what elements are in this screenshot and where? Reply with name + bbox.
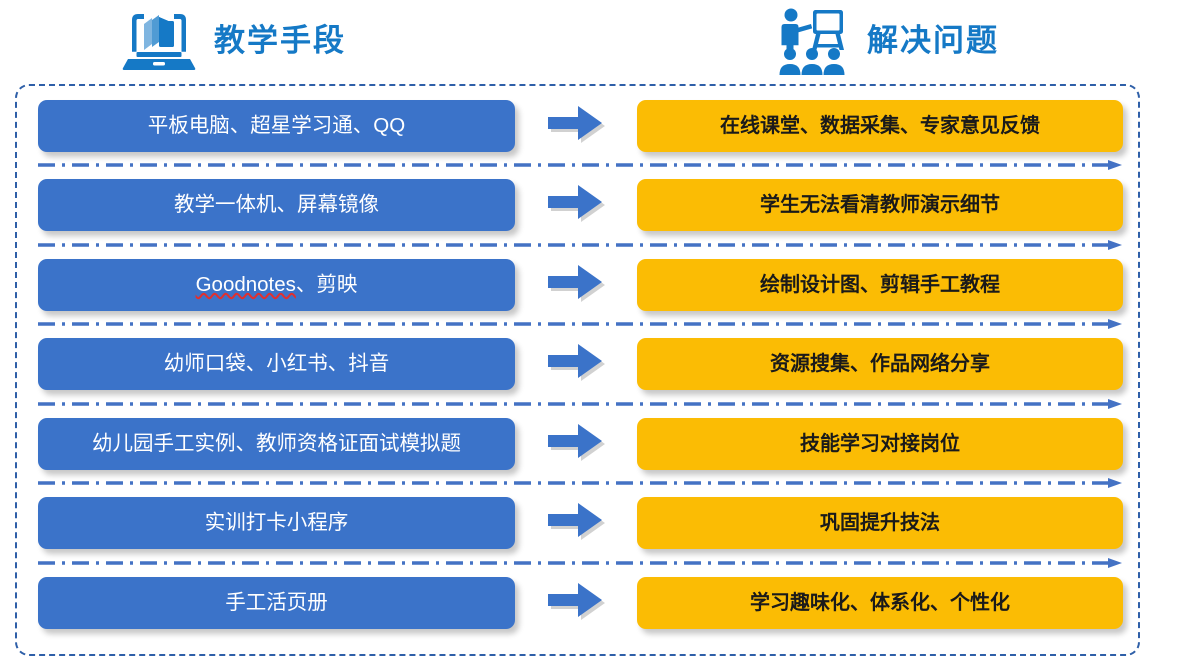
teaching-method-pill[interactable]: 教学一体机、屏幕镜像: [38, 179, 515, 231]
teaching-method-label: 幼儿园手工实例、教师资格证面试模拟题: [92, 434, 461, 455]
solved-problem-label: 资源搜集、作品网络分享: [770, 354, 990, 374]
right-arrow-icon: [548, 424, 616, 464]
right-arrow-icon: [548, 185, 616, 225]
solved-problem-label: 在线课堂、数据采集、专家意见反馈: [720, 116, 1040, 136]
right-arrow-icon: [548, 106, 616, 146]
mapping-row: Goodnotes、剪映绘制设计图、剪辑手工教程: [0, 245, 1180, 325]
mapping-row: 教学一体机、屏幕镜像学生无法看清教师演示细节: [0, 166, 1180, 246]
teaching-method-pill[interactable]: 实训打卡小程序: [38, 497, 515, 549]
teaching-method-pill[interactable]: 幼师口袋、小红书、抖音: [38, 338, 515, 390]
mapping-row: 幼儿园手工实例、教师资格证面试模拟题技能学习对接岗位: [0, 404, 1180, 484]
solved-problem-label: 技能学习对接岗位: [800, 434, 960, 454]
teaching-method-pill[interactable]: 平板电脑、超星学习通、QQ: [38, 100, 515, 152]
right-arrow-icon: [548, 583, 616, 623]
teacher-classroom-icon: [775, 4, 849, 76]
solved-problem-pill[interactable]: 学生无法看清教师演示细节: [637, 179, 1123, 231]
solved-problem-pill[interactable]: 绘制设计图、剪辑手工教程: [637, 259, 1123, 311]
misspelled-word: Goodnotes: [196, 273, 296, 296]
solved-problem-pill[interactable]: 资源搜集、作品网络分享: [637, 338, 1123, 390]
teaching-method-label: Goodnotes、剪映: [196, 275, 358, 296]
solved-problem-label: 绘制设计图、剪辑手工教程: [760, 275, 1000, 295]
header-group-solved-problems: 解决问题: [775, 4, 999, 76]
mapping-row: 实训打卡小程序巩固提升技法: [0, 484, 1180, 564]
mapping-rows: 平板电脑、超星学习通、QQ在线课堂、数据采集、专家意见反馈教学一体机、屏幕镜像学…: [0, 84, 1180, 656]
label-remainder: 、剪映: [296, 273, 358, 296]
teaching-method-pill[interactable]: 手工活页册: [38, 577, 515, 629]
solved-problem-pill[interactable]: 学习趣味化、体系化、个性化: [637, 577, 1123, 629]
right-arrow-icon: [548, 503, 616, 543]
teaching-method-pill[interactable]: 幼儿园手工实例、教师资格证面试模拟题: [38, 418, 515, 470]
solved-problem-pill[interactable]: 巩固提升技法: [637, 497, 1123, 549]
page-header: 教学手段: [0, 0, 1180, 85]
teaching-method-label: 教学一体机、屏幕镜像: [174, 195, 379, 216]
teaching-method-label: 实训打卡小程序: [205, 513, 349, 534]
solved-problem-pill[interactable]: 在线课堂、数据采集、专家意见反馈: [637, 100, 1123, 152]
teaching-method-label: 手工活页册: [225, 593, 328, 614]
header-group-teaching-methods: 教学手段: [122, 4, 346, 76]
solved-problem-label: 巩固提升技法: [820, 513, 940, 533]
teaching-method-pill[interactable]: Goodnotes、剪映: [38, 259, 515, 311]
right-arrow-icon: [548, 344, 616, 384]
solved-problem-pill[interactable]: 技能学习对接岗位: [637, 418, 1123, 470]
right-arrow-icon: [548, 265, 616, 305]
mapping-row: 平板电脑、超星学习通、QQ在线课堂、数据采集、专家意见反馈: [0, 86, 1180, 166]
mapping-row: 手工活页册学习趣味化、体系化、个性化: [0, 563, 1180, 643]
teaching-method-label: 平板电脑、超星学习通、QQ: [148, 116, 405, 137]
solved-problem-label: 学生无法看清教师演示细节: [760, 195, 1000, 215]
laptop-books-icon: [122, 4, 196, 76]
solved-problem-label: 学习趣味化、体系化、个性化: [750, 593, 1010, 613]
header-title-right: 解决问题: [867, 25, 999, 56]
teaching-method-label: 幼师口袋、小红书、抖音: [164, 354, 390, 375]
header-title-left: 教学手段: [214, 25, 346, 56]
mapping-row: 幼师口袋、小红书、抖音资源搜集、作品网络分享: [0, 325, 1180, 405]
